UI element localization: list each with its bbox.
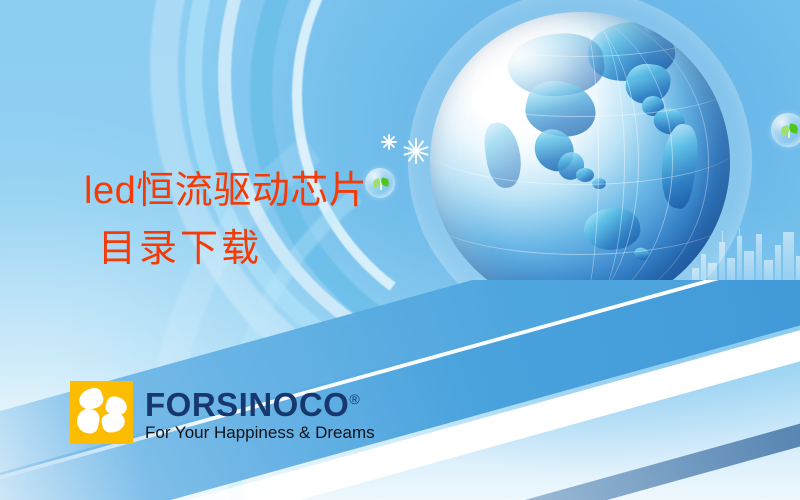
- globe-sphere: [430, 12, 730, 312]
- green-sprout-icon: [372, 175, 389, 192]
- world-globe: [430, 12, 730, 312]
- bubble-sprout-upper-right: [771, 113, 800, 147]
- petal-bottom-left: [75, 407, 101, 434]
- registered-mark: ®: [349, 391, 360, 407]
- green-sprout-icon: [779, 121, 798, 140]
- logo-text-block: FORSINOCO® For Your Happiness & Dreams: [145, 382, 375, 443]
- headline-line-2: 目录下载: [84, 220, 367, 278]
- logo-flower-icon: [70, 381, 133, 444]
- brand-tagline: For Your Happiness & Dreams: [145, 423, 375, 443]
- sparkle-large-icon: [403, 138, 429, 164]
- bubble-sprout-mid: [365, 168, 395, 198]
- headline-line-1: led恒流驱动芯片: [84, 170, 367, 212]
- poster-banner: led恒流驱动芯片 目录下载 FORSINOCO® For Your Happi…: [0, 0, 800, 500]
- petal-bottom-right: [100, 411, 126, 434]
- petal-top-left: [76, 386, 105, 412]
- page-title: led恒流驱动芯片 目录下载: [84, 162, 367, 278]
- brand-logo: FORSINOCO® For Your Happiness & Dreams: [70, 381, 375, 444]
- globe-longitude: [556, 12, 599, 312]
- brand-name: FORSINOCO®: [145, 382, 375, 422]
- sparkle-small-icon: [381, 134, 397, 150]
- brand-name-text: FORSINOCO: [145, 386, 349, 423]
